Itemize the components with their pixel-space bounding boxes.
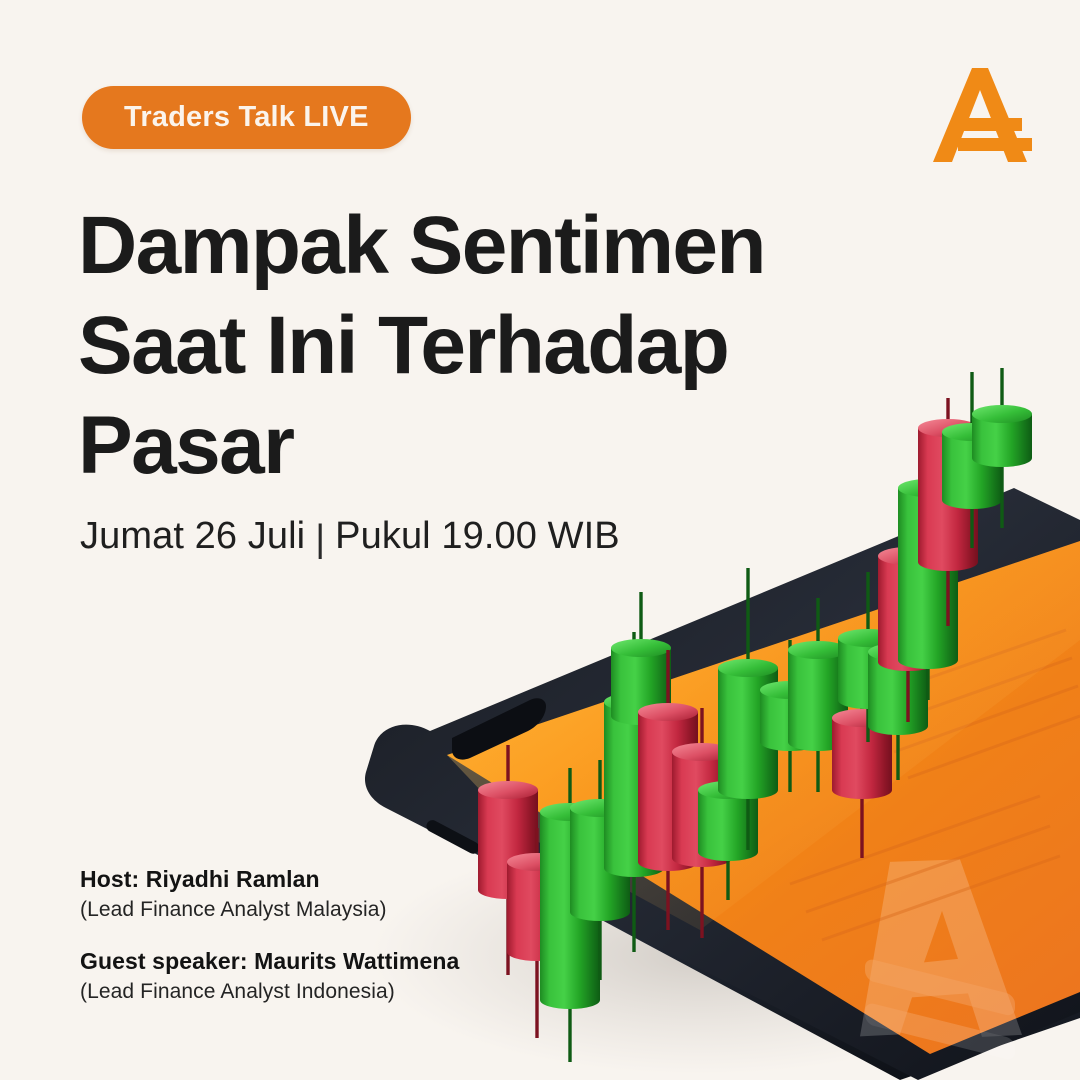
credit-guest-role: (Lead Finance Analyst Indonesia) — [80, 980, 459, 1004]
credit-host-role: (Lead Finance Analyst Malaysia) — [80, 898, 459, 922]
credits-block: Host: Riyadhi Ramlan (Lead Finance Analy… — [80, 866, 459, 1004]
credit-host-name: Host: Riyadhi Ramlan — [80, 866, 459, 893]
credit-guest-name: Guest speaker: Maurits Wattimena — [80, 948, 459, 975]
credit-guest: Guest speaker: Maurits Wattimena (Lead F… — [80, 948, 459, 1004]
credit-host: Host: Riyadhi Ramlan (Lead Finance Analy… — [80, 866, 459, 922]
poster-canvas: Traders Talk LIVE Dampak Sentimen Saat I… — [0, 0, 1080, 1080]
